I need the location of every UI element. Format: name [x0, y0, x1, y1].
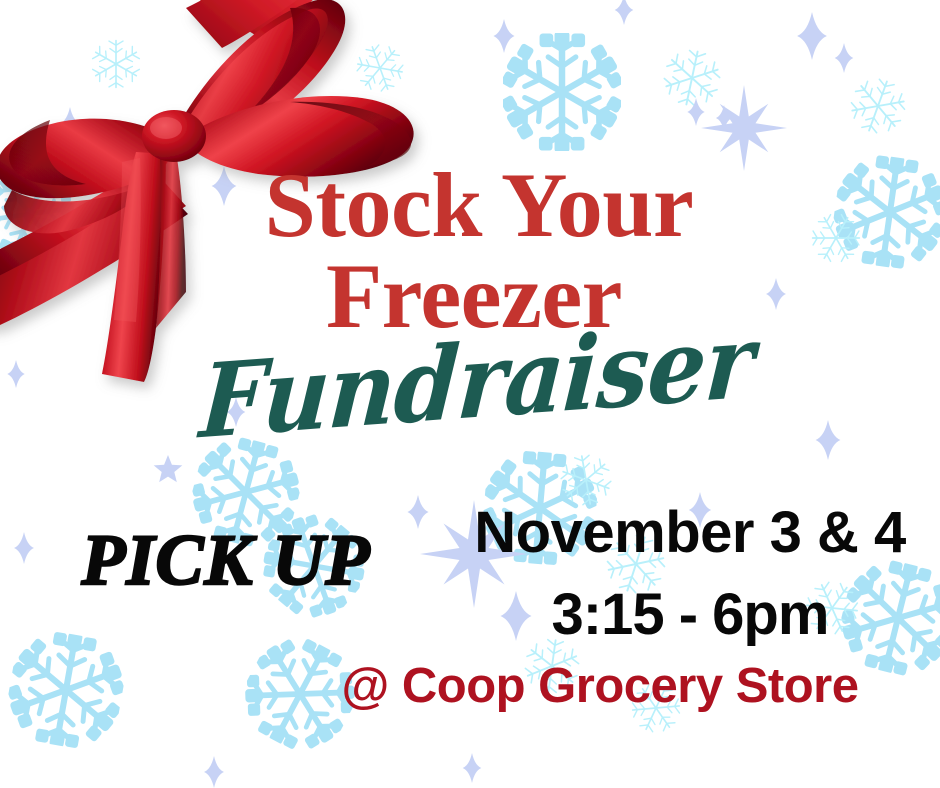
snowflake-icon: [656, 42, 727, 113]
sparkle-star-icon: [487, 19, 521, 53]
headline-line-1: Stock Your: [0, 160, 940, 251]
sparkle-star-icon: [829, 43, 859, 73]
sparkle-star-icon: [711, 105, 737, 131]
five-point-star-icon: [153, 455, 183, 485]
script-subtitle: Fundraiser: [0, 336, 940, 428]
page-title: Stock Your Freezer: [0, 160, 940, 342]
event-time: 3:15 - 6pm: [455, 574, 925, 656]
poster-canvas: Stock Your Freezer Fundraiser PICK UP No…: [0, 0, 940, 788]
event-dates: November 3 & 4: [455, 492, 925, 574]
sparkle-star-icon: [198, 756, 230, 788]
snowflake-icon: [1, 625, 131, 755]
sparkle-star-icon: [457, 753, 487, 783]
event-venue: @ Coop Grocery Store: [300, 662, 900, 711]
sparkle-star-icon: [609, 0, 639, 25]
event-datetime: November 3 & 4 3:15 - 6pm: [455, 492, 925, 657]
pickup-label: PICK UP: [26, 524, 426, 596]
burst-star-icon: [701, 85, 787, 171]
sparkle-star-icon: [682, 98, 710, 126]
sparkle-star-icon: [788, 12, 836, 60]
snowflake-icon: [503, 33, 621, 151]
snowflake-icon: [841, 69, 915, 143]
